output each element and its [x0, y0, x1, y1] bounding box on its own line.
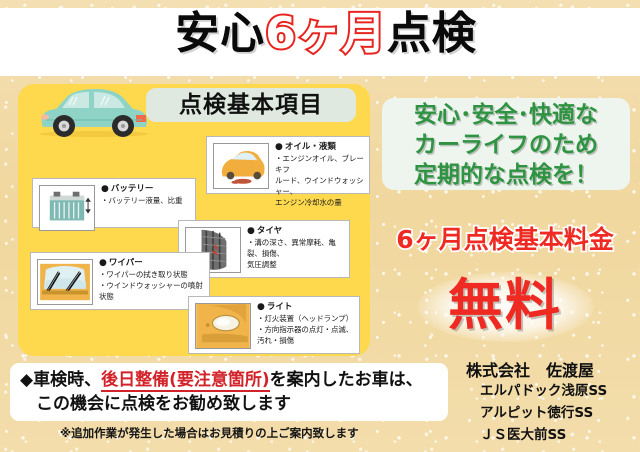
notice-line-1-pre: 車検時、	[33, 370, 101, 390]
inspection-item-oil-body: ●オイル・液類 ・エンジンオイル、ブレーキフ ルード、ウインドウォッシャー、 エ…	[275, 141, 365, 208]
diamond-icon: ◆	[20, 370, 33, 390]
bullet-icon: ●	[257, 302, 265, 312]
inspection-item-wiper-title: ●ワイパー	[99, 257, 205, 269]
title-part-6months: 6ヶ月	[265, 8, 387, 59]
company-branch-1: エルパドック浅原SS	[480, 382, 640, 401]
bullet-icon: ●	[101, 184, 109, 194]
inspection-item-light: ●ライト ・灯火装置（ヘッドランプ） ・方向指示器の点灯・点滅、 汚れ・損傷	[188, 296, 360, 354]
inspection-item-oil-title: ●オイル・液類	[275, 141, 365, 153]
inspection-item-tire-desc: ・溝の深さ、異常摩耗、亀裂、損傷、 気圧調整	[247, 237, 345, 270]
headlight-icon	[195, 303, 251, 349]
notice-line-1: ◆車検時、後日整備(要注意箇所)を案内したお車は、	[20, 368, 450, 392]
notice-fineprint: ※追加作業が発生した場合はお見積りの上ご案内致します	[60, 425, 460, 441]
price-heading: 6ヶ月点検基本料金	[370, 225, 640, 255]
inspection-item-light-title: ●ライト	[257, 301, 355, 313]
title-part-anshin: 安心	[175, 8, 265, 59]
promo-message: 安心･安全･快適な カーライフのため 定期的な点検を！	[382, 100, 630, 190]
windshield-wiper-icon	[37, 259, 93, 305]
inspection-item-tire-title-text: タイヤ	[257, 226, 282, 236]
page-title: 安心6ヶ月点検	[0, 9, 640, 59]
title-part-tenken: 点検	[387, 8, 477, 59]
poster-root: 安心6ヶ月点検 点検基本項目	[0, 0, 640, 452]
inspection-item-tire-body: ●タイヤ ・溝の深さ、異常摩耗、亀裂、損傷、 気圧調整	[247, 225, 345, 270]
company-branch-2: アルピット徳行SS	[480, 404, 640, 423]
inspection-item-light-desc: ・灯火装置（ヘッドランプ） ・方向指示器の点灯・点滅、 汚れ・損傷	[257, 313, 355, 346]
price-value: 無料	[370, 272, 640, 338]
promo-message-line-3: 定期的な点検を！	[382, 160, 630, 190]
inspection-item-light-body: ●ライト ・灯火装置（ヘッドランプ） ・方向指示器の点灯・点滅、 汚れ・損傷	[257, 301, 355, 346]
inspection-item-oil-desc: ・エンジンオイル、ブレーキフ ルード、ウインドウォッシャー、 エンジン冷却水の量	[275, 153, 365, 208]
inspection-panel-header-label: 点検基本項目	[146, 92, 356, 118]
inspection-item-tire-title: ●タイヤ	[247, 225, 345, 237]
inspection-item-light-title-text: ライト	[267, 302, 293, 312]
bullet-icon: ●	[275, 142, 283, 152]
car-oil-leak-icon	[213, 143, 269, 189]
inspection-item-battery-body: ●バッテリー ・バッテリー液量、比重	[101, 183, 191, 206]
promo-message-line-1: 安心･安全･快適な	[382, 100, 630, 130]
bullet-icon: ●	[247, 226, 255, 236]
inspection-item-wiper: ●ワイパー ・ワイパーの拭き取り状態 ・ウインドウォッシャーの噴射 状態	[30, 252, 210, 310]
inspection-item-battery: ●バッテリー ・バッテリー液量、比重	[32, 178, 196, 228]
inspection-item-battery-title: ●バッテリー	[101, 183, 191, 195]
company-name: 株式会社 佐渡屋	[466, 360, 640, 382]
inspection-item-oil-title-text: オイル・液類	[285, 142, 336, 152]
bullet-icon: ●	[99, 258, 107, 268]
inspection-item-battery-desc: ・バッテリー液量、比重	[101, 195, 191, 206]
inspection-item-oil: ●オイル・液類 ・エンジンオイル、ブレーキフ ルード、ウインドウォッシャー、 エ…	[206, 136, 370, 194]
promo-message-line-2: カーライフのため	[382, 130, 630, 160]
car-battery-icon	[39, 185, 95, 231]
car-side-icon	[32, 84, 156, 140]
notice-line-1-post: を案内したお車は、	[270, 370, 423, 390]
company-branch-3: ＪＳ医大前SS	[480, 426, 640, 445]
notice-highlight: 後日整備(要注意箇所)	[101, 370, 270, 392]
inspection-item-wiper-title-text: ワイパー	[109, 258, 143, 268]
inspection-item-battery-title-text: バッテリー	[111, 184, 154, 194]
notice-line-2: この機会に点検をお勧め致します	[36, 392, 446, 416]
